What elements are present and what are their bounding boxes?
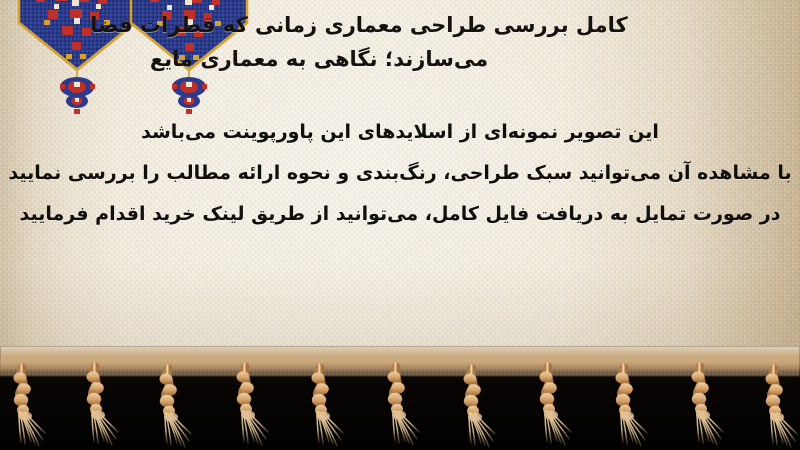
- carpet-tassel-row-icon: [0, 346, 800, 450]
- title-line-1: کامل بررسی طراحی معماری زمانی که قطرات ف…: [0, 8, 788, 42]
- body-line-1: این تصویر نمونه‌ای از اسلایدهای این پاور…: [0, 112, 800, 153]
- body-line-3: در صورت تمایل به دریافت فایل کامل، می‌تو…: [0, 194, 800, 235]
- carpet-fringe-band: [0, 346, 800, 450]
- slide-title: کامل بررسی طراحی معماری زمانی که قطرات ف…: [0, 8, 800, 76]
- slide-body: این تصویر نمونه‌ای از اسلایدهای این پاور…: [0, 112, 800, 235]
- slide-canvas: کامل بررسی طراحی معماری زمانی که قطرات ف…: [0, 0, 800, 450]
- body-line-2: با مشاهده آن می‌توانید سبک طراحی، رنگ‌بن…: [0, 153, 800, 194]
- title-line-2: می‌سازند؛ نگاهی به معماری مایع: [0, 42, 788, 76]
